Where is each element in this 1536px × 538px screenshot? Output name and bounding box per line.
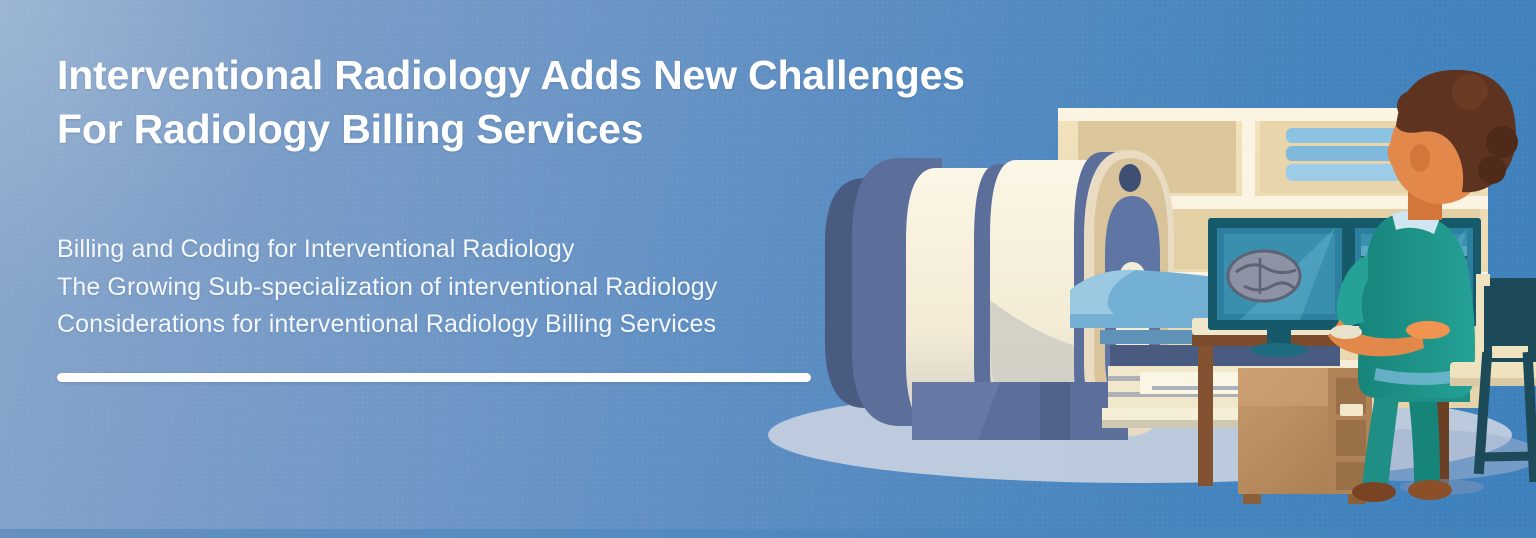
- accent-divider-bar: [57, 373, 811, 382]
- subheading-list: Billing and Coding for Interventional Ra…: [57, 231, 1067, 344]
- headline-line-1: Interventional Radiology Adds New Challe…: [57, 48, 1067, 102]
- banner-text-block: Interventional Radiology Adds New Challe…: [57, 48, 1067, 382]
- storage-cabinet: [1238, 368, 1372, 504]
- subheading-item-2: The Growing Sub-specialization of interv…: [57, 269, 1067, 307]
- bottom-accent-strip: [0, 529, 1536, 538]
- radiology-billing-banner: Interventional Radiology Adds New Challe…: [0, 0, 1536, 538]
- subheading-item-1: Billing and Coding for Interventional Ra…: [57, 231, 1067, 269]
- page-title: Interventional Radiology Adds New Challe…: [57, 48, 1067, 156]
- subheading-item-3: Considerations for interventional Radiol…: [57, 306, 1067, 344]
- linen-stack-upper: [1286, 128, 1404, 181]
- headline-line-2: For Radiology Billing Services: [57, 102, 1067, 156]
- brain-scan-on-monitor: [1228, 251, 1300, 301]
